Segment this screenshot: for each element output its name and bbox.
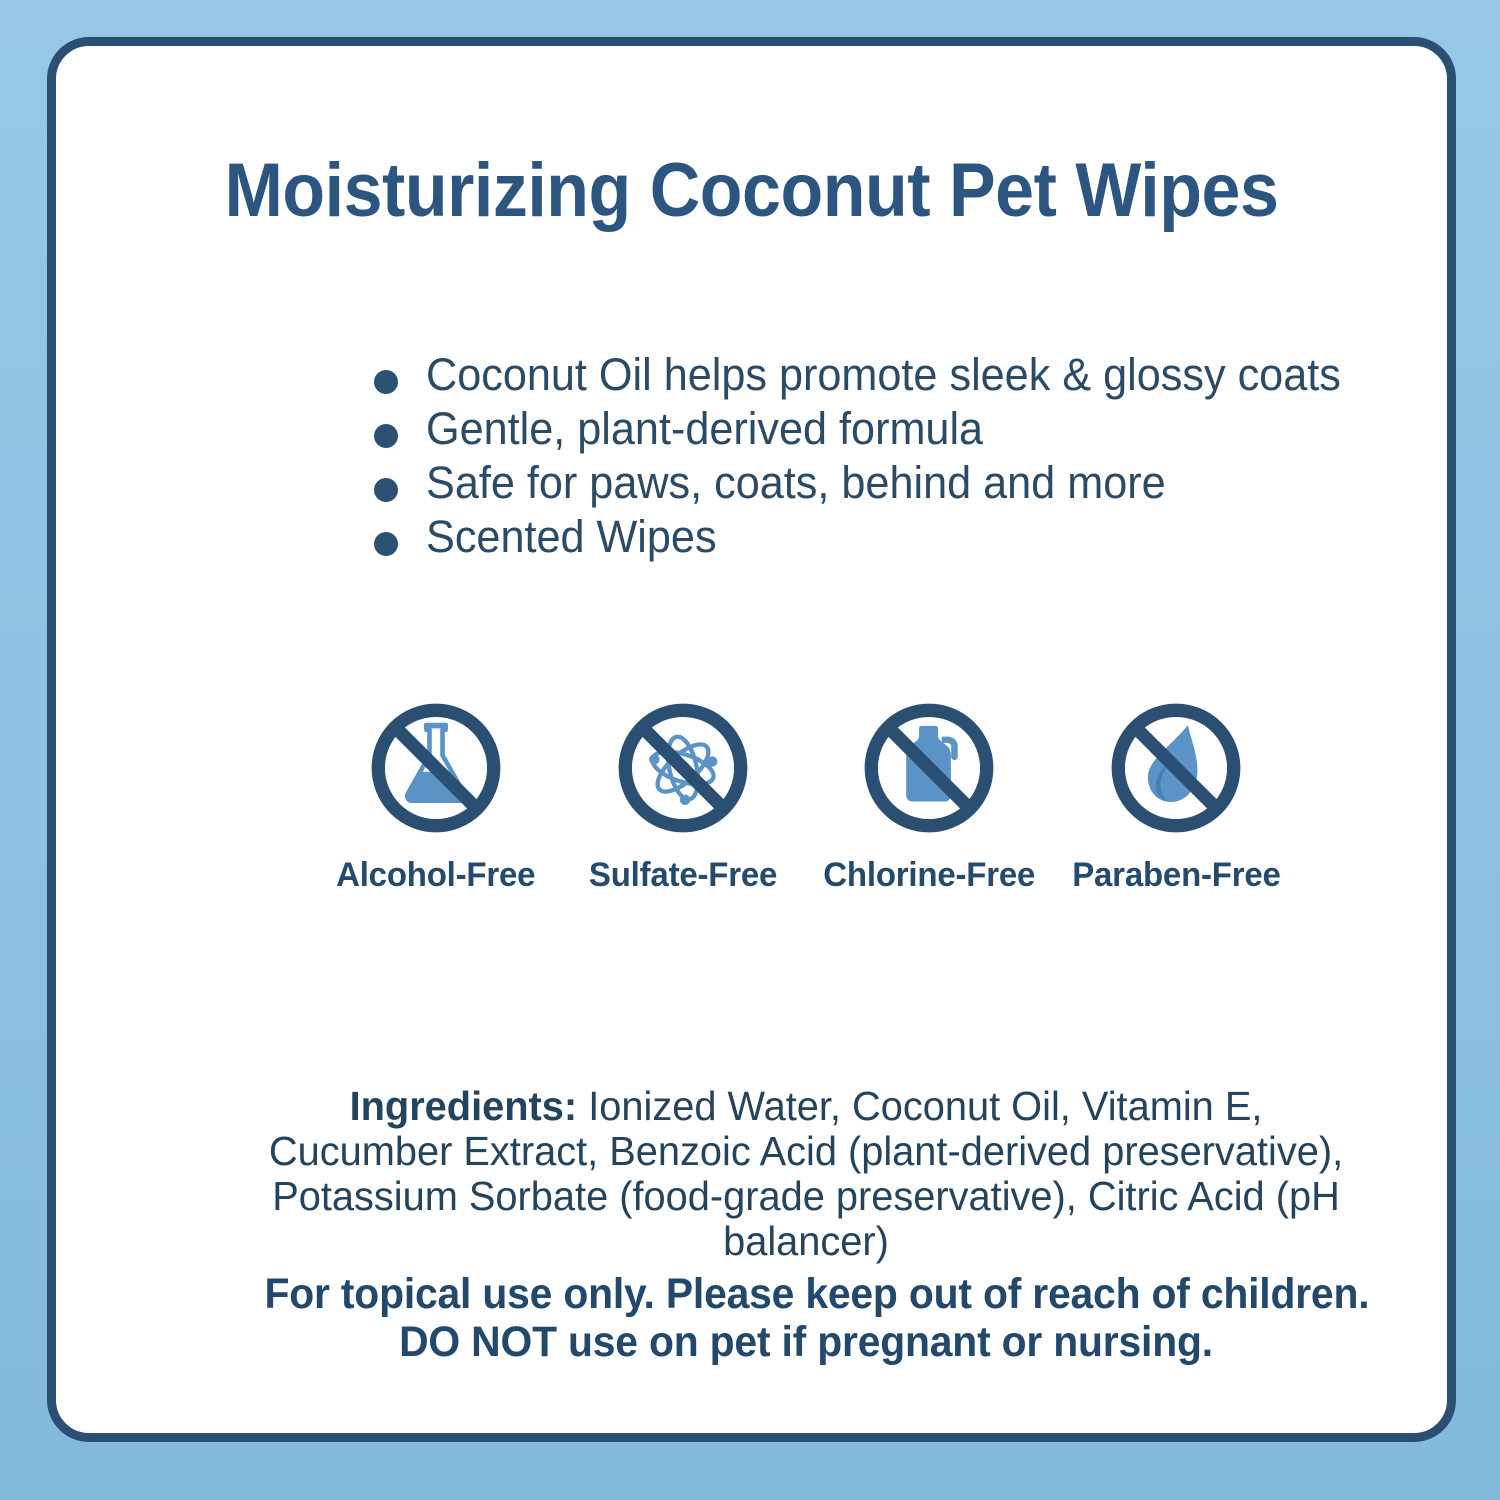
product-infographic: Moisturizing Coconut Pet Wipes Coconut O… <box>0 0 1500 1500</box>
no-flask-icon <box>362 694 510 842</box>
bullet-dot-icon <box>374 424 398 448</box>
bullet-dot-icon <box>374 370 398 394</box>
product-info-card: Moisturizing Coconut Pet Wipes Coconut O… <box>47 37 1456 1442</box>
free-from-item-chlorine: Chlorine-Free <box>814 694 1044 894</box>
no-droplet-icon <box>1102 694 1250 842</box>
warning-line-2: DO NOT use on pet if pregnant or nursing… <box>265 1318 1348 1366</box>
free-from-label: Chlorine-Free <box>823 856 1035 894</box>
page-title: Moisturizing Coconut Pet Wipes <box>112 149 1392 233</box>
free-from-label: Sulfate-Free <box>589 856 777 894</box>
list-item: Gentle, plant-derived formula <box>374 405 1374 452</box>
warning-line-1: For topical use only. Please keep out of… <box>265 1270 1348 1318</box>
warning-text: For topical use only. Please keep out of… <box>265 1270 1348 1366</box>
bullet-dot-icon <box>374 532 398 556</box>
free-from-label: Alcohol-Free <box>336 856 535 894</box>
free-from-item-sulfate: Sulfate-Free <box>568 694 798 894</box>
list-item-label: Gentle, plant-derived formula <box>426 405 983 452</box>
free-from-icon-row: Alcohol-Free Sulfate-Free <box>321 694 1291 894</box>
list-item: Scented Wipes <box>374 513 1374 560</box>
list-item-label: Safe for paws, coats, behind and more <box>426 459 1166 506</box>
no-atom-icon <box>609 694 757 842</box>
list-item-label: Coconut Oil helps promote sleek & glossy… <box>426 351 1341 398</box>
list-item-label: Scented Wipes <box>426 513 717 560</box>
feature-bullet-list: Coconut Oil helps promote sleek & glossy… <box>374 351 1374 567</box>
list-item: Coconut Oil helps promote sleek & glossy… <box>374 351 1374 398</box>
free-from-item-paraben: Paraben-Free <box>1061 694 1291 894</box>
ingredients-label: Ingredients: <box>350 1083 578 1129</box>
free-from-item-alcohol: Alcohol-Free <box>321 694 551 894</box>
free-from-label: Paraben-Free <box>1072 856 1280 894</box>
no-jug-icon <box>855 694 1003 842</box>
bullet-dot-icon <box>374 478 398 502</box>
list-item: Safe for paws, coats, behind and more <box>374 459 1374 506</box>
ingredients-paragraph: Ingredients: Ionized Water, Coconut Oil,… <box>263 1084 1349 1264</box>
